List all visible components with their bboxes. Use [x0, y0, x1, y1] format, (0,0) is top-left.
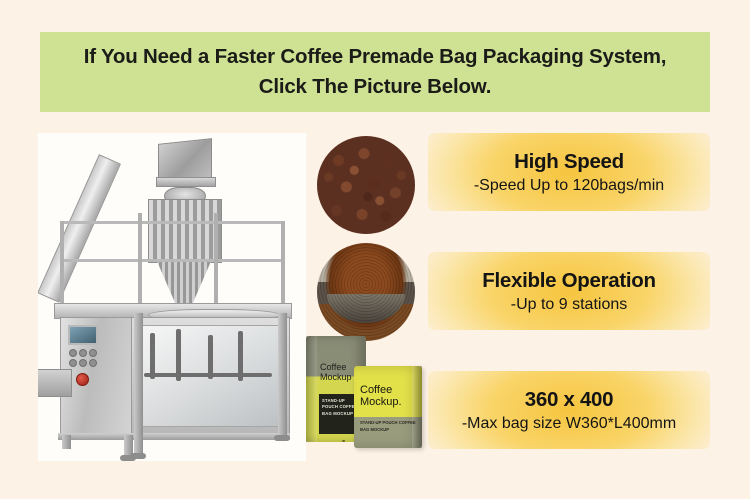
machine-support-leg — [278, 313, 287, 437]
machine-discharge-cone — [156, 259, 212, 308]
coffee-bag-front: Coffee Mockup. STAND-UP POUCH COFFEE BAG… — [354, 366, 422, 448]
coffee-bowl — [327, 294, 405, 323]
machine-push-button — [89, 359, 97, 367]
bag-back-line-1: Coffee — [320, 362, 352, 372]
machine-base-plate — [58, 433, 290, 440]
feature-title: Flexible Operation — [482, 269, 655, 293]
bag-gusset — [306, 336, 317, 442]
machine-side-conveyor — [38, 369, 72, 397]
feature-title: 360 x 400 — [525, 388, 614, 412]
feature-subtitle: -Max bag size W360*L400mm — [462, 415, 676, 433]
machine-rail-post — [214, 213, 218, 305]
headline-line-2: Click The Picture Below. — [259, 72, 492, 102]
machine-multihead-weigher — [148, 199, 222, 263]
machine-hmi-screen — [68, 325, 98, 345]
machine-incline-conveyor — [38, 154, 121, 303]
headline-line-1: If You Need a Faster Coffee Premade Bag … — [84, 42, 667, 72]
coffee-beans-photo — [317, 136, 415, 234]
machine-support-leg — [134, 313, 143, 455]
coffee-bag-mockups: Coffee Mockup STAND-UP POUCH COFFEE BAG … — [302, 336, 430, 456]
feature-subtitle: -Speed Up to 120bags/min — [474, 177, 664, 195]
machine-handrail-top — [60, 221, 284, 224]
machine-rail-post — [60, 221, 64, 305]
machine-rail-post — [281, 221, 285, 305]
bag-front-line-1: Coffee — [360, 384, 402, 396]
machine-emergency-stop-button — [76, 373, 89, 386]
promo-banner-image: If You Need a Faster Coffee Premade Bag … — [0, 0, 750, 499]
bag-front-line-2: Mockup. — [360, 396, 402, 408]
feature-title: High Speed — [514, 150, 624, 174]
feature-card-flexible-operation: Flexible Operation -Up to 9 stations — [428, 252, 710, 330]
bag-front-text: Coffee Mockup. — [360, 384, 402, 409]
feature-subtitle: -Up to 9 stations — [511, 296, 628, 314]
machine-push-button — [79, 359, 87, 367]
machine-rail-post — [138, 213, 142, 305]
bag-back-line-2: Mockup — [320, 372, 352, 382]
machine-push-button — [79, 349, 87, 357]
machine-push-button — [69, 359, 77, 367]
bag-back-text: Coffee Mockup — [320, 362, 352, 383]
bag-front-subtext: STAND-UP POUCH COFFEE BAG MOCKUP — [360, 420, 422, 433]
machine-hopper-lip — [156, 177, 216, 187]
machine-leveling-foot — [130, 453, 146, 459]
machine-push-button — [89, 349, 97, 357]
machine-handrail-mid — [60, 259, 284, 262]
headline-banner: If You Need a Faster Coffee Premade Bag … — [40, 32, 710, 112]
feature-card-bag-size: 360 x 400 -Max bag size W360*L400mm — [428, 371, 710, 449]
machine-cross-bar — [144, 373, 272, 377]
machine-push-button — [69, 349, 77, 357]
machine-picture[interactable] — [38, 133, 306, 461]
feature-card-high-speed: High Speed -Speed Up to 120bags/min — [428, 133, 710, 211]
ground-coffee-photo — [317, 243, 415, 341]
machine-leveling-foot — [274, 435, 290, 441]
machine-illustration — [38, 133, 306, 461]
machine-support-leg — [62, 435, 71, 449]
bag-gusset — [412, 366, 422, 448]
